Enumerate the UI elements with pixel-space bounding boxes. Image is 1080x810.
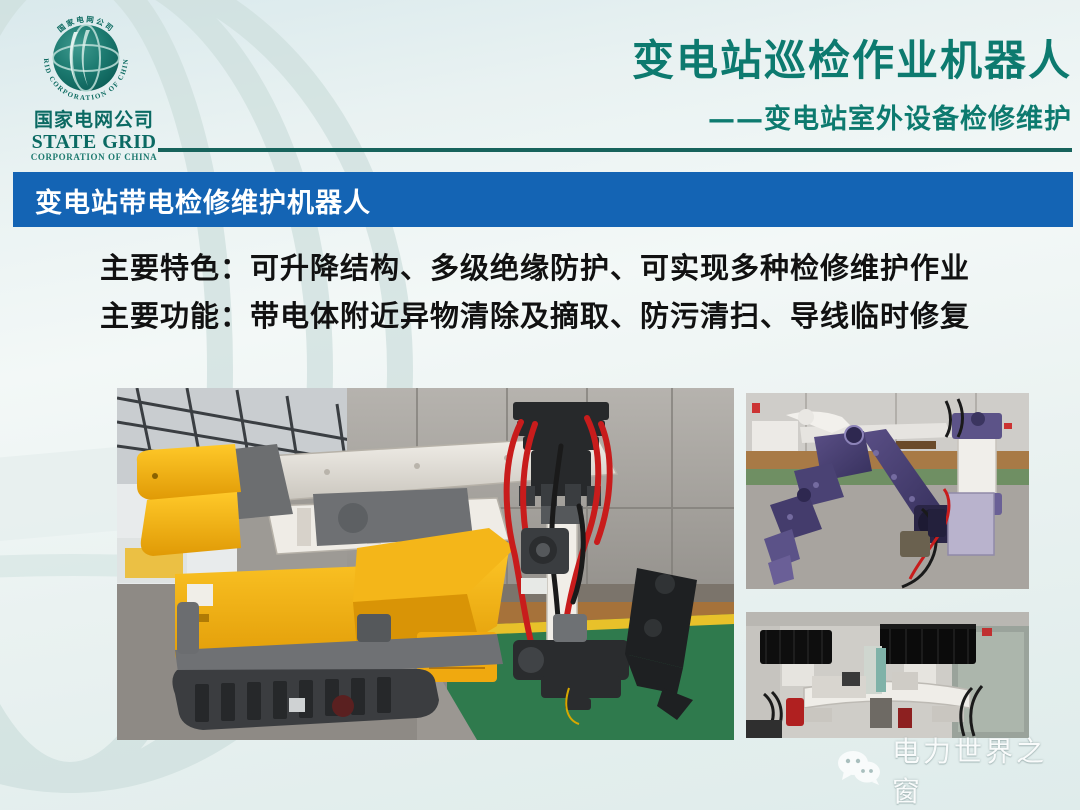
purple-articulated-manipulator-arm-photo — [746, 393, 1029, 589]
function-line: 主要功能：带电体附近异物清除及摘取、防污清扫、导线临时修复 — [100, 292, 1030, 340]
body-text-block: 主要特色：可升降结构、多级绝缘防护、可实现多种检修维护作业 主要功能：带电体附近… — [100, 244, 1030, 340]
wechat-watermark-text: 电力世界之窗 — [892, 730, 1072, 810]
yellow-tracked-insulated-boom-robot-photo — [117, 388, 734, 740]
header-divider — [158, 148, 1072, 152]
feature-line: 主要特色：可升降结构、多级绝缘防护、可实现多种检修维护作业 — [100, 244, 1030, 292]
state-grid-globe-emblem: 国家电网公司 GRID CORPORATION OF CHINA — [34, 6, 138, 110]
logo-english-name: STATE GRID — [26, 132, 162, 152]
logo-english-subtitle: CORPORATION OF CHINA — [26, 152, 162, 162]
slide-header: 国家电网公司 GRID CORPORATION OF CHINA 国家电网公司 … — [0, 0, 1080, 168]
section-banner: 变电站带电检修维护机器人 — [13, 172, 1073, 227]
section-banner-title: 变电站带电检修维护机器人 — [35, 181, 371, 220]
state-grid-logo: 国家电网公司 GRID CORPORATION OF CHINA 国家电网公司 … — [16, 6, 156, 161]
page-title: 变电站巡检作业机器人 — [632, 27, 1072, 88]
slide-root: 国家电网公司 GRID CORPORATION OF CHINA 国家电网公司 … — [0, 0, 1080, 810]
dual-black-brush-cleaning-device-photo — [746, 612, 1029, 738]
page-subtitle: ——变电站室外设备检修维护 — [708, 97, 1072, 136]
wechat-icon — [836, 750, 882, 791]
wechat-watermark: 电力世界之窗 — [836, 744, 1072, 796]
logo-chinese-name: 国家电网公司 — [30, 110, 158, 131]
